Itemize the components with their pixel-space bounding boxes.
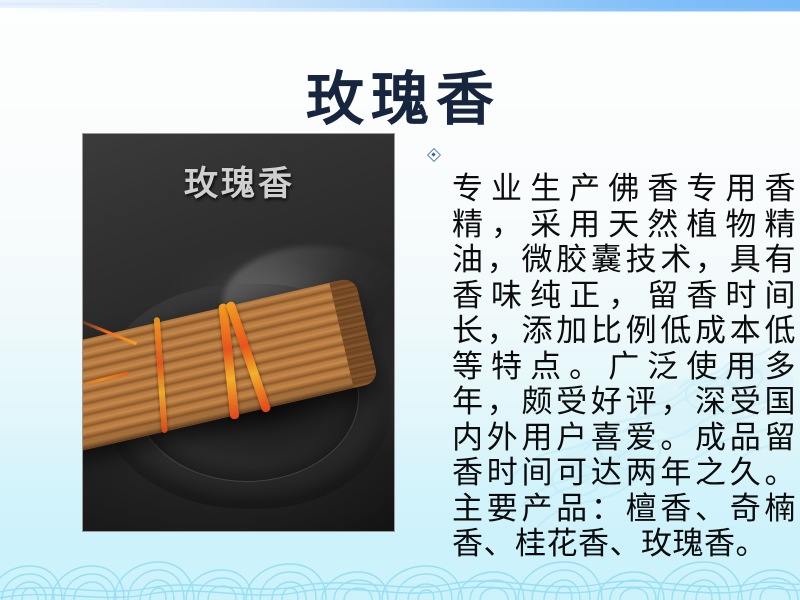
photo-caption: 玫瑰香: [83, 156, 395, 205]
page-title: 玫瑰香: [0, 65, 800, 135]
diamond-bullet-icon: [428, 149, 442, 163]
top-accent-stripe: [0, 0, 800, 11]
incense-tie-string: [154, 317, 168, 433]
content-bullet-block: 专业生产佛香专用香精，采用天然植物精油，微胶囊技术，具有香味纯正，留香时间长，添…: [428, 140, 796, 593]
body-paragraph: 专业生产佛香专用香精，采用天然植物精油，微胶囊技术，具有香味纯正，留香时间长，添…: [452, 171, 796, 562]
slide-root: 玫瑰香 玫瑰香 专业生产佛香专用香精，采用天然植物精油，微胶囊技术，具有香味纯正…: [0, 0, 800, 600]
product-photo: 玫瑰香: [82, 133, 395, 532]
top-accent-stripe-highlight: [0, 1, 98, 7]
